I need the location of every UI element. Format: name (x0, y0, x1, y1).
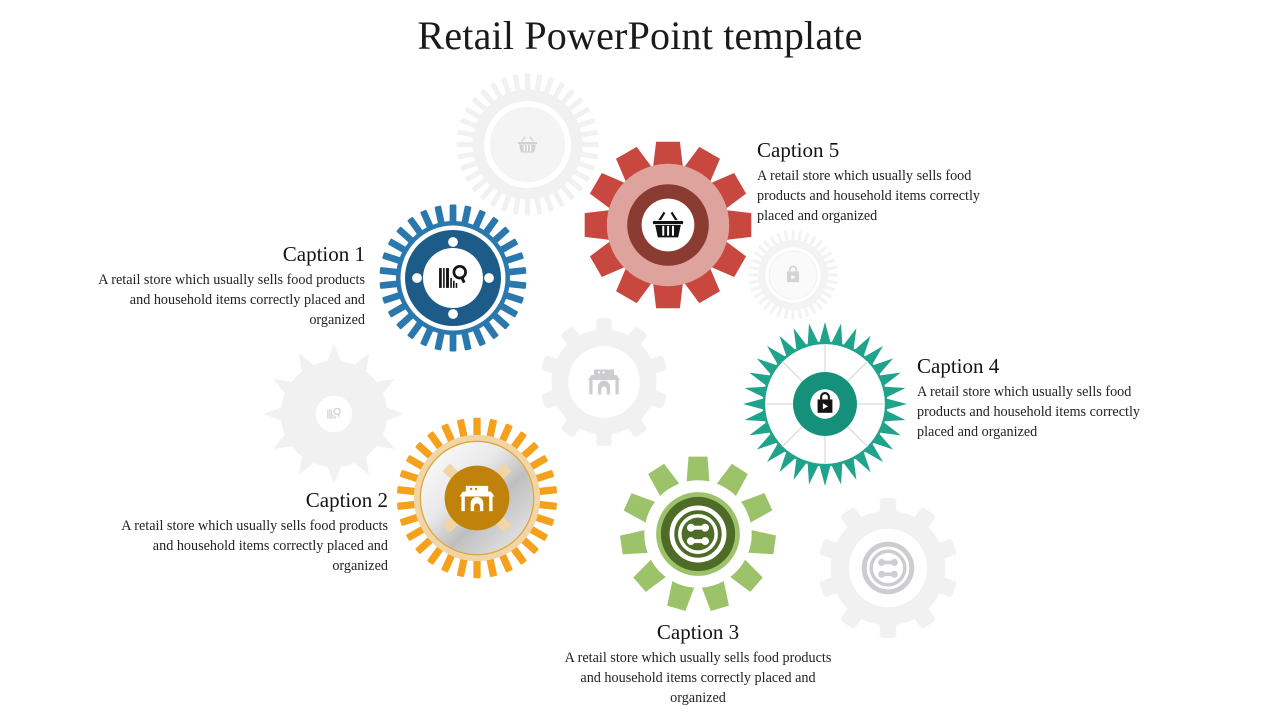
bg-gear-basket (455, 72, 600, 217)
bg-gear-store (540, 318, 668, 446)
caption-4-body: A retail store which usually sells food … (917, 383, 1179, 443)
bg-gear-bag (747, 229, 839, 321)
caption-5-title: Caption 5 (757, 138, 1019, 163)
caption-5: Caption 5 A retail store which usually s… (757, 138, 1019, 226)
gear-caption-2[interactable] (396, 417, 558, 579)
caption-3-title: Caption 3 (563, 620, 833, 645)
caption-5-body: A retail store which usually sells food … (757, 167, 1019, 227)
gear-caption-5[interactable] (583, 140, 753, 310)
caption-1: Caption 1 A retail store which usually s… (95, 242, 365, 330)
gear-caption-1[interactable] (378, 203, 528, 353)
caption-4-title: Caption 4 (917, 354, 1179, 379)
gear-hub-blue (423, 248, 483, 308)
page-title: Retail PowerPoint template (0, 12, 1280, 60)
bg-gear-barcode (264, 344, 404, 484)
caption-2-body: A retail store which usually sells food … (118, 517, 388, 577)
caption-3-body: A retail store which usually sells food … (563, 649, 833, 709)
bg-gear-button (818, 498, 958, 638)
gear-caption-3[interactable] (619, 455, 777, 613)
caption-1-title: Caption 1 (95, 242, 365, 267)
slide-canvas: Retail PowerPoint template (0, 0, 1280, 720)
caption-4: Caption 4 A retail store which usually s… (917, 354, 1179, 442)
caption-2-title: Caption 2 (118, 488, 388, 513)
caption-2: Caption 2 A retail store which usually s… (118, 488, 388, 576)
caption-1-body: A retail store which usually sells food … (95, 271, 365, 331)
caption-3: Caption 3 A retail store which usually s… (563, 620, 833, 708)
